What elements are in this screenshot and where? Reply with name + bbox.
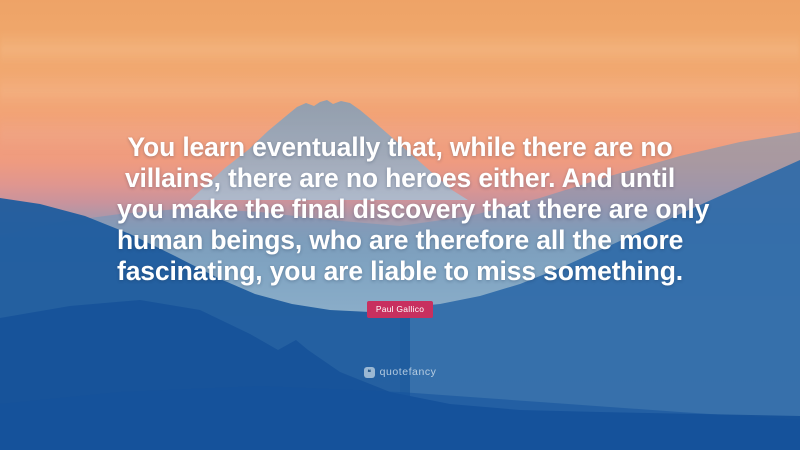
quote-line-1: You learn eventually that, while there a…: [117, 132, 683, 163]
quote-text: You learn eventually that, while there a…: [117, 132, 683, 287]
author-badge[interactable]: Paul Gallico: [367, 301, 433, 318]
watermark[interactable]: ❝ quotefancy: [0, 366, 800, 378]
quote-line-4: human beings, who are therefore all the …: [117, 225, 683, 256]
quote-line-3: you make the final discovery that there …: [117, 194, 683, 225]
author-badge-container: Paul Gallico: [0, 299, 800, 318]
quote-line-2: villains, there are no heroes either. An…: [117, 163, 683, 194]
quote-line-5: fascinating, you are liable to miss some…: [117, 256, 683, 287]
quotefancy-logo-icon: ❝: [364, 367, 375, 378]
quote-wallpaper: You learn eventually that, while there a…: [0, 0, 800, 450]
watermark-brand-label: quotefancy: [380, 366, 437, 378]
